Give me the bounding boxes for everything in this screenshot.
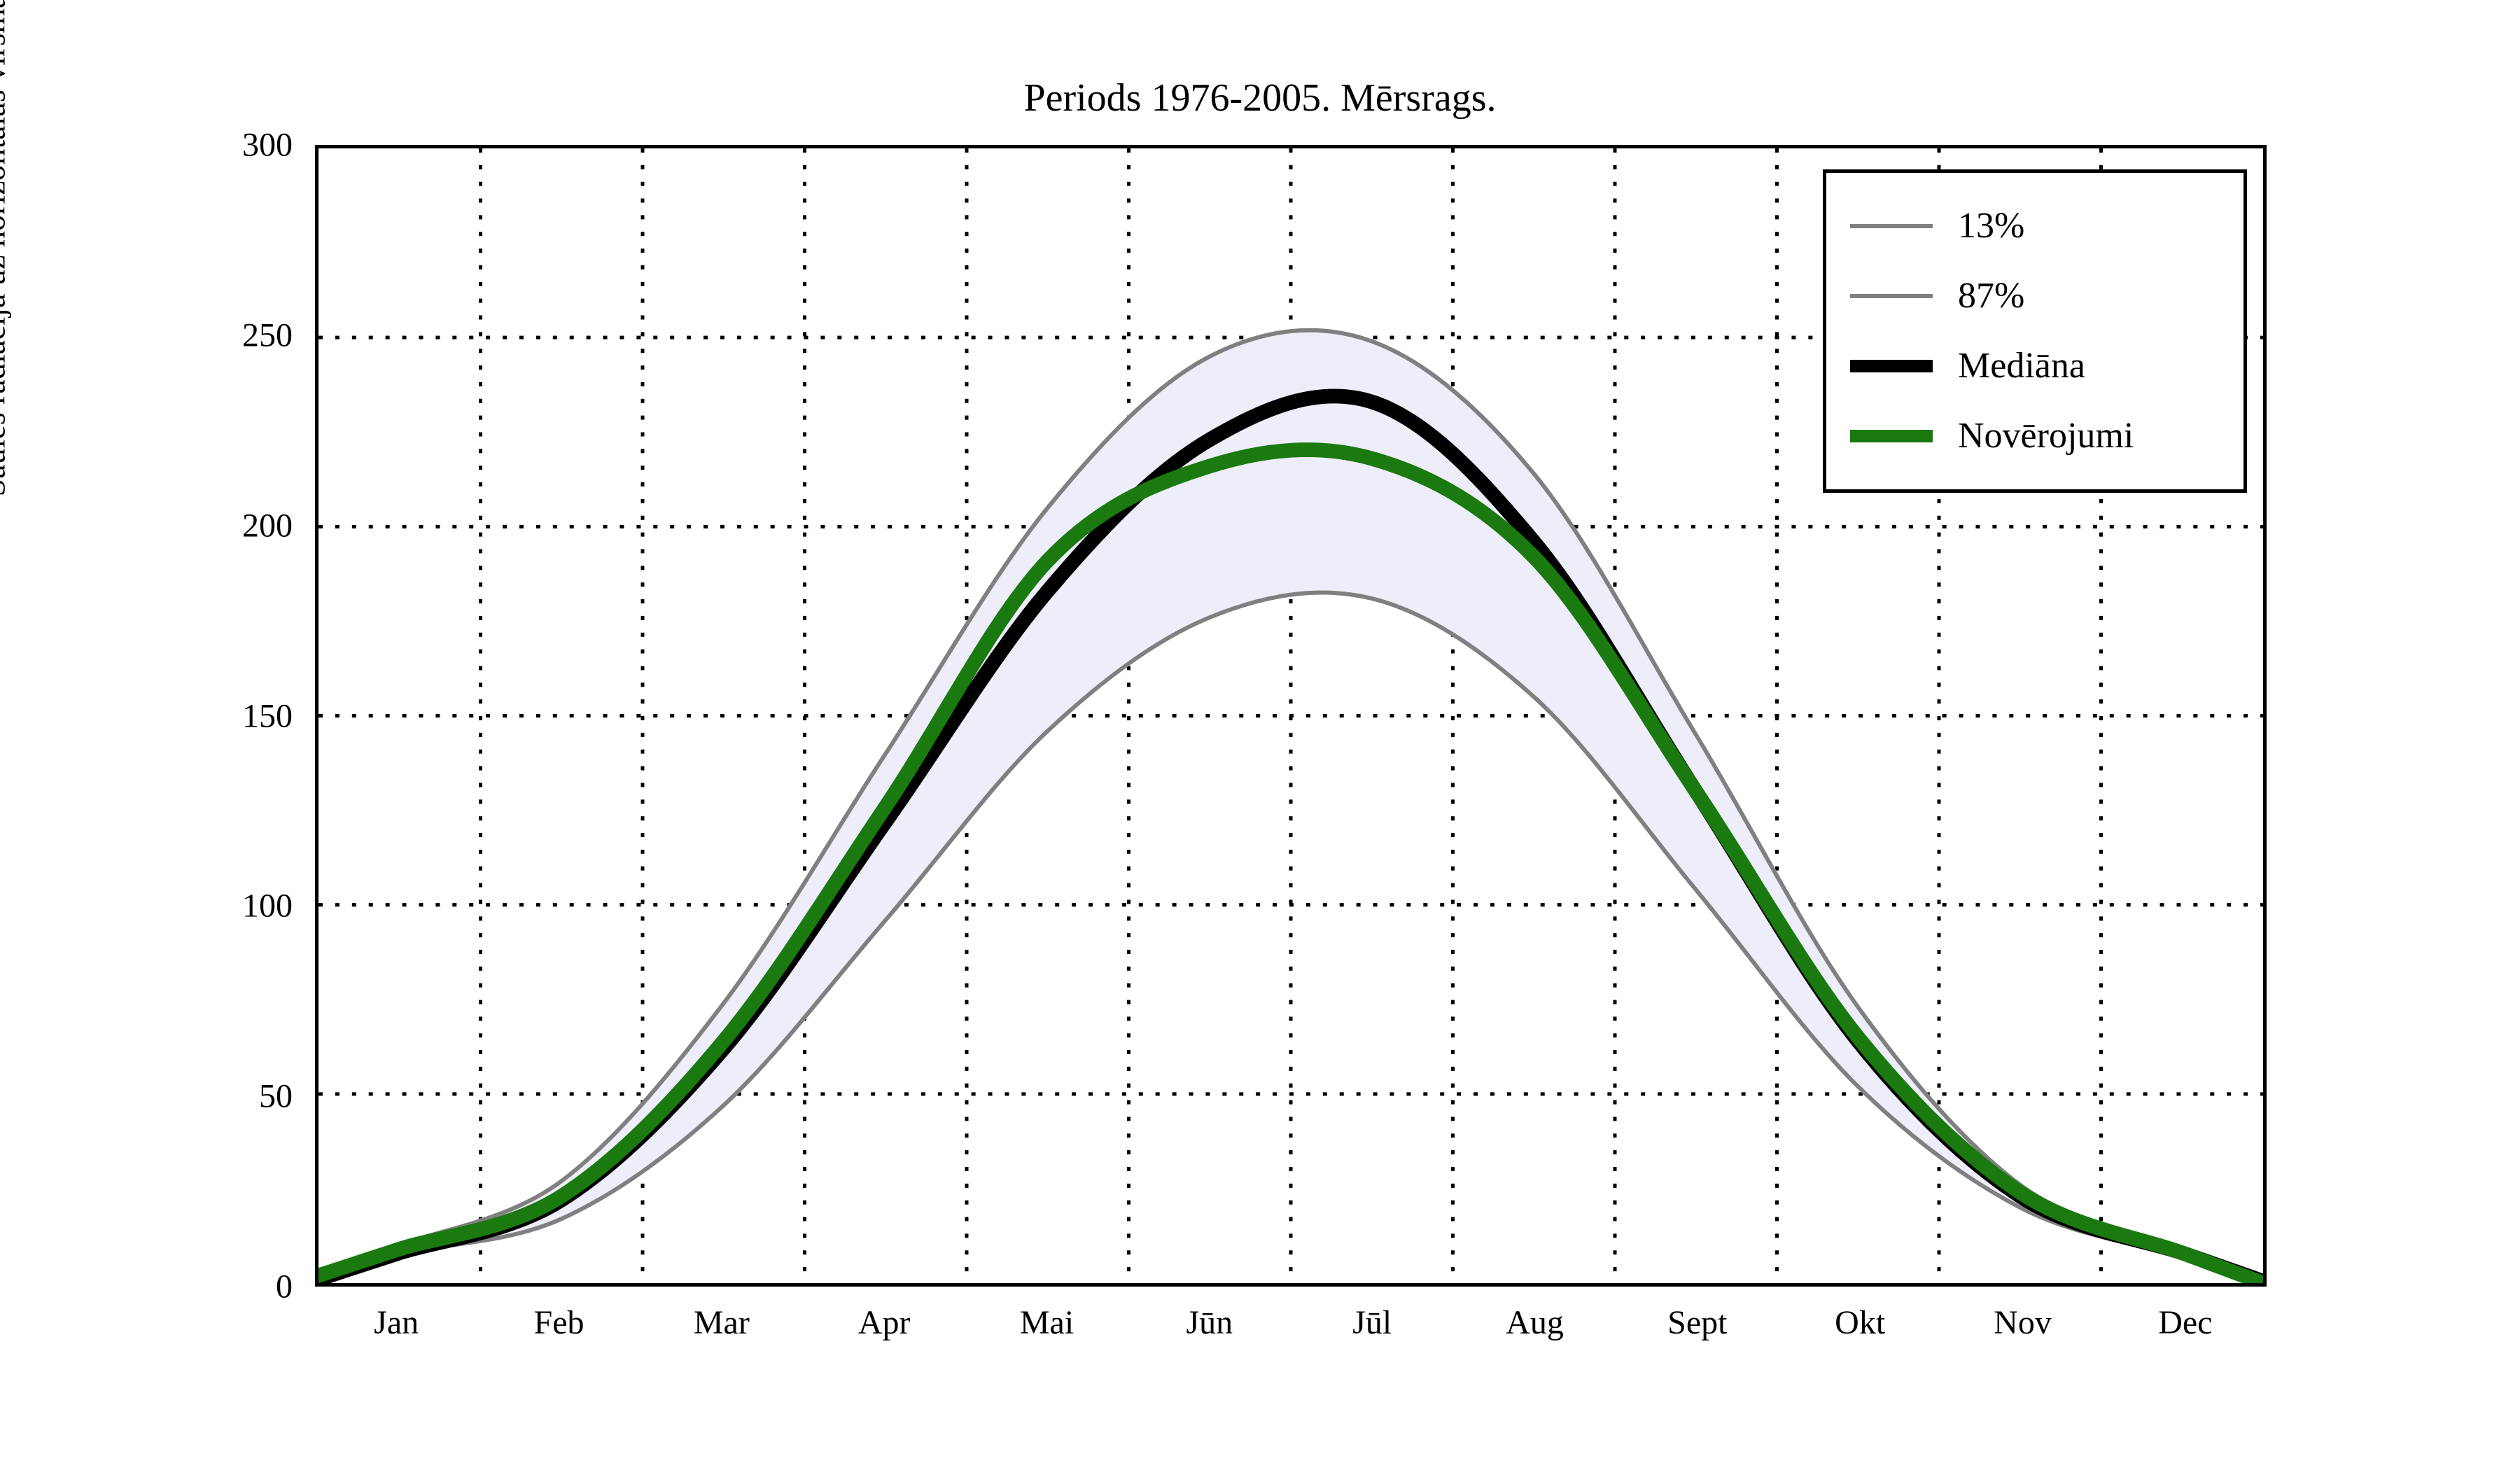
legend-item-13pct[interactable]: 13% [1826,191,2243,261]
x-tick-label: Jūl [1352,1303,1392,1342]
y-tick-label: 250 [242,316,293,354]
chart-figure: Periods 1976-2005. Mērsrags. Saules radi… [0,0,2520,1470]
x-tick-label: Aug [1506,1303,1564,1342]
x-tick-label: Mar [694,1303,750,1342]
x-tick-label: Apr [858,1303,911,1342]
legend-label-novErojumi: Novērojumi [1958,418,2134,454]
y-tick-label: 50 [259,1077,293,1116]
y-axis-label-text: Saules radiācija uz horizontālas virsmas… [0,0,11,496]
x-tick-label: Nov [1994,1303,2052,1342]
x-tick-label: Jūn [1186,1303,1233,1342]
y-tick-label: 300 [242,126,293,164]
legend-swatch-87pct-icon [1850,294,1933,298]
legend-swatch-novErojumi-icon [1850,430,1933,442]
x-tick-label: Dec [2158,1303,2212,1342]
y-tick-label: 150 [242,696,293,735]
y-tick-label: 0 [276,1268,293,1306]
legend-label-13pct: 13% [1958,208,2024,244]
legend-swatch-13pct-icon [1850,224,1933,228]
x-tick-label: Feb [534,1303,584,1342]
y-tick-label: 100 [242,887,293,925]
legend-item-novErojumi[interactable]: Novērojumi [1826,401,2243,471]
chart-title: Periods 1976-2005. Mērsrags. [0,76,2520,120]
x-tick-label: Mai [1020,1303,1074,1342]
y-tick-label: 200 [242,506,293,545]
chart-legend: 13% 87% Mediāna Novērojumi [1823,169,2247,493]
legend-label-mediana: Mediāna [1958,348,2085,384]
legend-label-87pct: 87% [1958,278,2024,314]
legend-item-87pct[interactable]: 87% [1826,261,2243,331]
x-tick-label: Okt [1835,1303,1885,1342]
legend-swatch-mediana-icon [1850,360,1933,372]
y-axis-label: Saules radiācija uz horizontālas virsmas… [0,0,12,496]
x-tick-label: Sept [1667,1303,1727,1342]
legend-item-mediana[interactable]: Mediāna [1826,331,2243,401]
x-tick-label: Jan [374,1303,419,1342]
